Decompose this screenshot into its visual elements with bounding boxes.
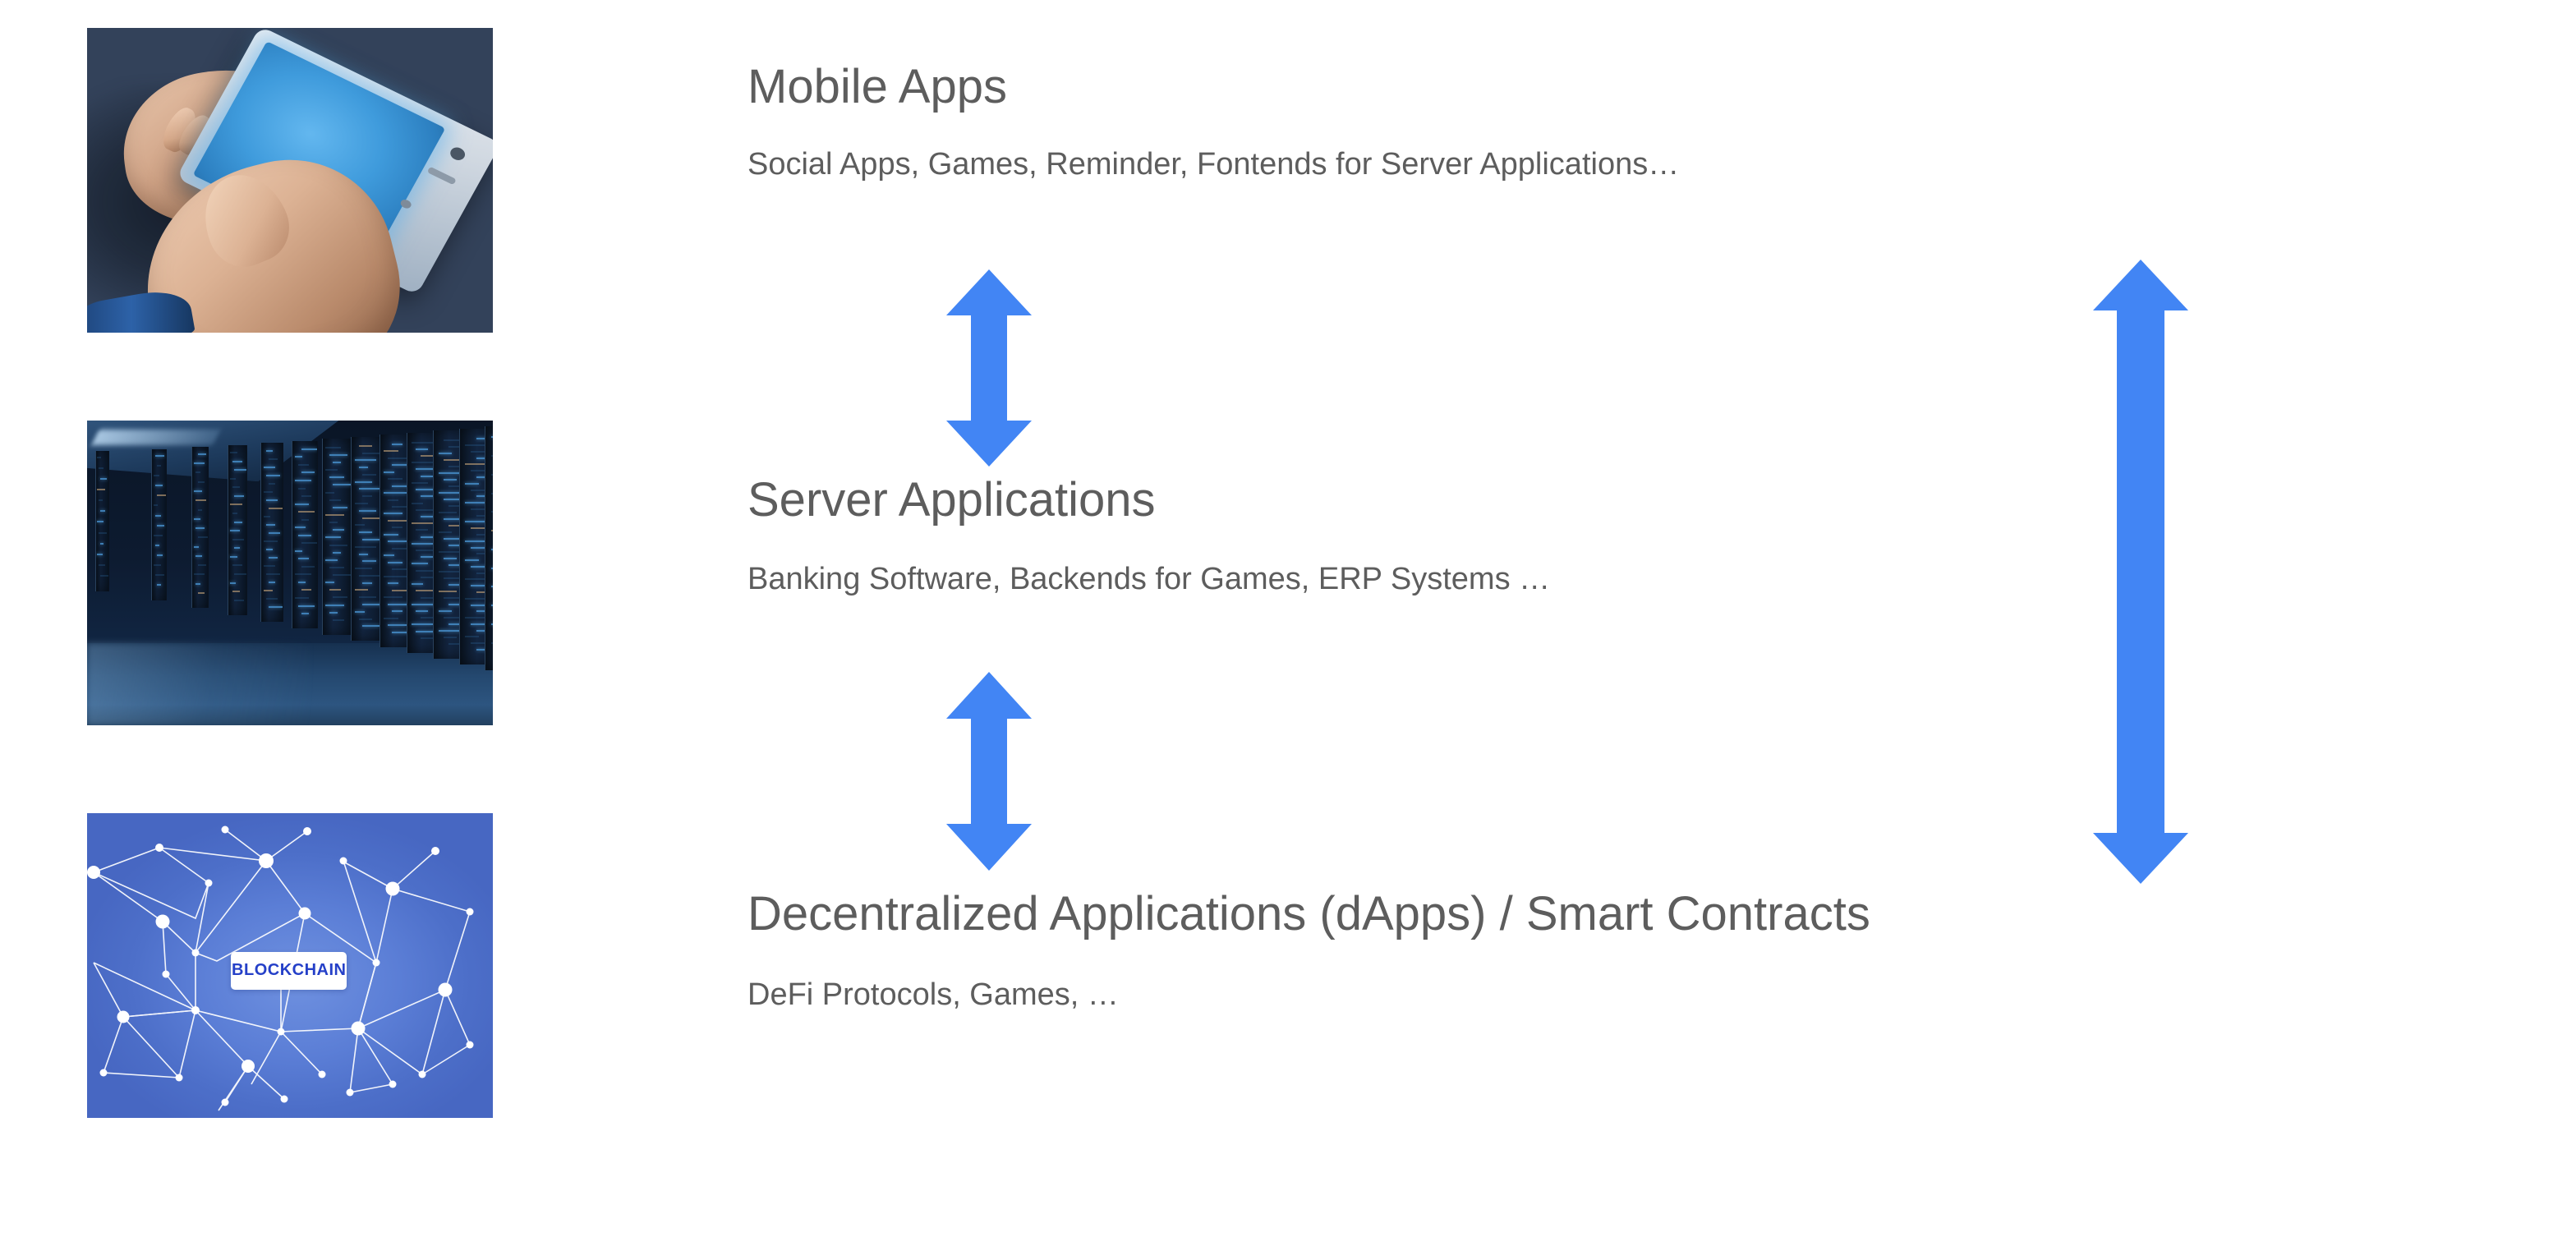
- rack-led: [298, 582, 306, 583]
- rack-led: [195, 527, 204, 529]
- double-arrow-icon: [946, 672, 1032, 871]
- rack-led: [301, 448, 318, 450]
- rack-led: [359, 554, 369, 555]
- rack-led: [301, 613, 309, 614]
- rack-led: [266, 598, 278, 600]
- rack-led: [230, 504, 242, 505]
- section-server-applications: Server Applications Banking Software, Ba…: [747, 472, 1550, 599]
- rack-led: [359, 445, 372, 447]
- double-arrow-server-dapps: [946, 672, 1032, 871]
- rack-led: [333, 507, 347, 508]
- blockchain-label-badge: BLOCKCHAIN: [231, 952, 347, 990]
- rack-led: [232, 513, 238, 514]
- rack-led: [234, 522, 241, 523]
- rack-led: [491, 530, 493, 531]
- rack-led: [491, 586, 493, 587]
- rack-led: [264, 516, 270, 517]
- rack-led: [329, 589, 341, 591]
- rack-led: [99, 564, 105, 566]
- rack-led: [362, 474, 375, 476]
- rack-led: [388, 478, 402, 480]
- rack-led: [465, 559, 480, 561]
- mobile-phone-photo: [87, 28, 493, 333]
- double-arrow-icon: [946, 269, 1032, 467]
- rack-led: [355, 481, 372, 483]
- rack-led: [266, 475, 280, 476]
- rack-led: [355, 589, 368, 591]
- rack-led: [388, 540, 407, 542]
- rack-led: [439, 512, 457, 513]
- rack-led: [269, 483, 275, 485]
- rack-led: [295, 597, 308, 599]
- rack-led: [269, 458, 278, 460]
- rack-led: [295, 480, 311, 481]
- rack-led: [491, 493, 493, 494]
- rack-led: [465, 540, 485, 542]
- rack-led: [298, 488, 306, 490]
- rack-led: [266, 549, 273, 550]
- rack-led: [392, 527, 402, 528]
- rack-led: [333, 529, 344, 531]
- rack-led: [295, 573, 311, 575]
- dapps-title: Decentralized Applications (dApps) / Sma…: [747, 886, 1870, 942]
- rack-led: [325, 469, 337, 471]
- rack-led: [301, 542, 318, 544]
- section-mobile-apps: Mobile Apps Social Apps, Games, Reminder…: [747, 59, 1679, 184]
- rack-led: [491, 568, 493, 569]
- rack-led: [157, 584, 161, 586]
- rack-led: [232, 591, 240, 592]
- rack-led: [195, 555, 202, 557]
- rack-led: [157, 554, 163, 556]
- rack-led: [195, 583, 200, 585]
- rack-led: [416, 509, 432, 511]
- rack-led: [325, 582, 333, 583]
- rack-led: [421, 476, 432, 477]
- mobile-apps-subtitle: Social Apps, Games, Reminder, Fontends f…: [747, 146, 1679, 184]
- rack-led: [491, 605, 493, 606]
- rack-led: [465, 463, 485, 465]
- rack-led: [269, 582, 275, 583]
- rack-led: [100, 575, 108, 577]
- rack-led: [355, 524, 365, 526]
- rack-led: [384, 492, 407, 494]
- rack-led: [295, 550, 302, 552]
- rack-led: [362, 582, 372, 584]
- rack-led: [384, 471, 394, 473]
- mobile-apps-title: Mobile Apps: [747, 59, 1679, 115]
- rack-led: [392, 590, 407, 591]
- rack-led: [359, 510, 376, 512]
- rack-led: [234, 547, 240, 549]
- rack-led: [269, 508, 283, 509]
- rack-led: [355, 611, 365, 613]
- rack-led: [388, 458, 407, 459]
- rack-led: [355, 546, 376, 548]
- rack-led: [301, 566, 315, 568]
- rack-led: [99, 499, 102, 501]
- rack-led: [412, 623, 433, 625]
- rack-led: [359, 488, 380, 490]
- rack-led: [157, 494, 166, 496]
- server-rack: [260, 443, 283, 622]
- rack-led: [465, 617, 485, 618]
- rack-led: [269, 557, 278, 559]
- rack-led: [198, 453, 206, 455]
- server-rack: [191, 447, 209, 608]
- rack-led: [269, 532, 280, 534]
- rack-led: [333, 619, 344, 621]
- server-rack: [485, 426, 493, 670]
- rack-led: [333, 462, 341, 463]
- server-rack: [292, 441, 318, 628]
- rack-led: [97, 521, 103, 522]
- rack-led: [266, 524, 275, 526]
- rack-led: [269, 606, 283, 608]
- rack-led: [198, 592, 205, 594]
- rack-led: [444, 479, 457, 481]
- rack-led: [194, 490, 202, 492]
- rack-led: [230, 478, 236, 480]
- rack-led: [194, 462, 205, 464]
- rack-led: [329, 612, 338, 614]
- rack-led: [230, 556, 237, 558]
- rack-led: [301, 471, 315, 473]
- dapps-subtitle: DeFi Protocols, Games, …: [747, 977, 1870, 1014]
- server-rack: [95, 451, 109, 591]
- rack-led: [154, 535, 163, 536]
- server-room-photo: [87, 421, 493, 725]
- rack-led: [359, 467, 369, 468]
- double-arrow-mobile-server: [946, 269, 1032, 467]
- rack-led: [198, 536, 209, 538]
- rack-led: [325, 559, 337, 561]
- rack-led: [155, 574, 164, 576]
- rack-led: [388, 562, 402, 563]
- rack-led: [362, 453, 379, 454]
- rack-led: [198, 481, 205, 483]
- rack-led: [439, 591, 457, 592]
- rack-led: [421, 556, 432, 558]
- rack-led: [100, 543, 103, 545]
- rack-led: [416, 590, 432, 591]
- rack-led: [355, 459, 376, 461]
- rack-led: [298, 558, 309, 559]
- rack-led: [362, 560, 375, 562]
- rack-led: [359, 618, 372, 620]
- ceiling-light: [91, 430, 220, 445]
- rack-led: [471, 585, 485, 586]
- rack-led: [97, 554, 102, 555]
- rack-led: [333, 484, 352, 485]
- rack-led: [266, 499, 278, 501]
- rack-led: [412, 482, 428, 484]
- rack-led: [301, 519, 309, 521]
- rack-led: [155, 485, 163, 486]
- rack-led: [439, 531, 452, 533]
- rack-led: [359, 575, 380, 577]
- rack-led: [491, 474, 493, 476]
- rack-led: [155, 515, 161, 517]
- mobile-phone-photo-inner: [87, 28, 493, 333]
- rack-led: [384, 576, 407, 577]
- rack-led: [325, 447, 340, 448]
- rack-led: [264, 590, 273, 591]
- server-rack: [322, 439, 352, 634]
- rack-led: [97, 457, 100, 458]
- rack-led: [100, 478, 107, 480]
- rack-led: [491, 511, 493, 513]
- earpiece-speaker: [427, 167, 457, 185]
- rack-led: [362, 539, 379, 540]
- rack-led: [154, 564, 161, 566]
- rack-led: [416, 529, 427, 531]
- rack-led: [195, 471, 200, 473]
- rack-led: [471, 508, 485, 510]
- rack-led: [325, 536, 340, 538]
- rack-led: [439, 610, 452, 612]
- rack-led: [232, 461, 242, 462]
- server-rack: [151, 449, 167, 600]
- blockchain-network-photo: BLOCKCHAIN: [87, 813, 493, 1118]
- rack-led: [301, 495, 312, 497]
- rack-led: [194, 573, 205, 575]
- rack-led: [232, 564, 242, 566]
- rack-led: [155, 455, 164, 457]
- rack-led: [264, 491, 273, 493]
- rack-led: [392, 610, 402, 612]
- rack-led: [198, 564, 206, 566]
- rack-led: [333, 552, 341, 554]
- rack-led: [234, 600, 244, 601]
- rack-led: [155, 545, 159, 546]
- rack-led: [298, 464, 309, 466]
- rack-led: [99, 467, 103, 469]
- rack-led: [333, 574, 352, 576]
- rack-led: [384, 618, 398, 619]
- rack-led: [298, 511, 315, 513]
- rack-led: [295, 527, 306, 528]
- rack-led: [329, 454, 348, 456]
- rack-led: [232, 539, 245, 540]
- rack-led: [230, 530, 240, 531]
- rack-led: [421, 637, 432, 639]
- rack-led: [195, 499, 206, 501]
- rack-led: [232, 486, 240, 488]
- rack-led: [230, 452, 237, 453]
- rack-led: [298, 535, 311, 536]
- rack-led: [266, 450, 273, 452]
- rack-led: [491, 642, 493, 644]
- rack-led: [234, 495, 244, 497]
- rack-led: [264, 540, 278, 542]
- rack-led: [329, 476, 344, 478]
- rack-led: [444, 637, 457, 638]
- rack-led: [198, 509, 203, 511]
- rack-led: [157, 525, 164, 527]
- rack-led: [465, 483, 480, 485]
- rack-led: [329, 522, 338, 523]
- rack-led: [412, 543, 433, 545]
- rack-led: [362, 495, 372, 497]
- rack-led: [384, 596, 402, 598]
- rack-led: [384, 513, 402, 514]
- rack-led: [99, 532, 107, 534]
- rack-led: [194, 546, 199, 548]
- rack-led: [264, 467, 275, 468]
- double-arrow-mobile-dapps: [2093, 260, 2188, 884]
- rack-led: [491, 436, 493, 438]
- rack-led: [416, 448, 427, 450]
- rack-led: [295, 456, 302, 458]
- rack-led: [444, 558, 457, 559]
- section-decentralized-applications: Decentralized Applications (dApps) / Sma…: [747, 886, 1870, 1014]
- rack-led: [412, 503, 423, 504]
- rack-led: [491, 623, 493, 625]
- rack-led: [416, 610, 427, 612]
- rack-led: [384, 534, 398, 536]
- rack-led: [333, 596, 347, 598]
- double-arrow-icon: [2093, 260, 2188, 884]
- rack-led: [465, 636, 480, 637]
- rack-led: [388, 624, 407, 626]
- rack-led: [325, 605, 344, 606]
- rack-led: [97, 489, 105, 490]
- server-applications-title: Server Applications: [747, 472, 1550, 528]
- rack-led: [359, 596, 376, 598]
- rack-led: [355, 503, 368, 504]
- server-rack: [228, 445, 247, 615]
- rack-led: [384, 554, 394, 556]
- rack-led: [392, 506, 407, 508]
- slide-canvas: BLOCKCHAIN Mobile Apps Social Apps, Game…: [0, 0, 2576, 1237]
- rack-led: [264, 565, 275, 567]
- rack-led: [230, 582, 236, 584]
- rack-led: [491, 455, 493, 457]
- rack-led: [439, 453, 452, 454]
- home-button: [400, 198, 413, 209]
- rack-led: [234, 469, 246, 471]
- rack-led: [154, 504, 158, 506]
- rack-led: [388, 582, 398, 584]
- rack-led: [194, 518, 200, 520]
- rack-led: [384, 450, 398, 452]
- rack-led: [298, 605, 315, 607]
- blockchain-network-photo-inner: BLOCKCHAIN: [87, 813, 493, 1118]
- rack-led: [295, 504, 308, 505]
- rack-led: [329, 545, 348, 546]
- rack-led: [392, 444, 402, 445]
- rack-led: [329, 567, 344, 568]
- rack-led: [266, 573, 280, 575]
- blockchain-label-text: BLOCKCHAIN: [232, 961, 346, 980]
- rack-led: [362, 625, 379, 627]
- rack-led: [100, 510, 105, 512]
- rack-led: [234, 573, 246, 575]
- rack-led: [301, 589, 312, 591]
- rack-led: [355, 568, 372, 569]
- rack-led: [491, 549, 493, 550]
- rack-led: [388, 499, 398, 501]
- rack-led: [157, 465, 161, 467]
- server-applications-subtitle: Banking Software, Backends for Games, ER…: [747, 561, 1550, 599]
- reflective-floor: [87, 643, 493, 725]
- rack-led: [359, 531, 372, 533]
- rack-led: [325, 492, 333, 494]
- server-room-photo-inner: [87, 421, 493, 725]
- front-camera-icon: [448, 145, 467, 163]
- rack-led: [412, 583, 423, 585]
- rack-led: [412, 462, 433, 463]
- rack-led: [325, 514, 344, 516]
- rack-led: [329, 499, 341, 501]
- rack-led: [412, 563, 428, 564]
- rack-led: [154, 475, 159, 476]
